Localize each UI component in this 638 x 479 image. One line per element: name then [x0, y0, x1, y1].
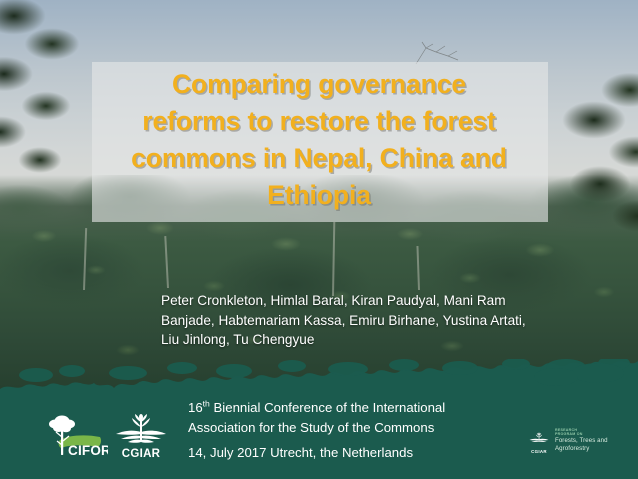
author-line-3: Liu Jinlong, Tu Chengyue — [161, 330, 593, 350]
title-line-3: commons in Nepal, China and — [68, 140, 570, 177]
fta-cgiar-emblem-icon — [528, 429, 550, 448]
page-title: Comparing governance reforms to restore … — [68, 66, 570, 214]
fta-name-line-2: Agroforestry — [555, 446, 608, 452]
cgiar-emblem-icon — [116, 414, 166, 443]
cifor-wordmark: CIFOR — [68, 443, 108, 458]
presentation-slide: Comparing governance reforms to restore … — [0, 0, 638, 479]
conference-line-2: Association for the Study of the Commons — [188, 418, 548, 438]
title-line-4: Ethiopia — [68, 177, 570, 214]
title-line-1: Comparing governance — [68, 66, 570, 103]
conference-date-location: 14, July 2017 Utrecht, the Netherlands — [188, 443, 548, 463]
fta-program-logo: CGIAR RESEARCH PROGRAM ON Forests, Trees… — [528, 424, 628, 458]
fta-name-line-1: Forests, Trees and — [555, 438, 608, 444]
author-list: Peter Cronkleton, Himlal Baral, Kiran Pa… — [161, 291, 593, 350]
cgiar-logo: CGIAR — [112, 410, 170, 462]
title-line-2: reforms to restore the forest — [68, 103, 570, 140]
conference-info: 16th Biennial Conference of the Internat… — [188, 398, 548, 463]
conference-ordinal-suffix: th — [203, 399, 210, 409]
cifor-logo: CIFOR — [42, 410, 108, 462]
author-line-2: Banjade, Habtemariam Kassa, Emiru Birhan… — [161, 311, 593, 331]
conference-line-1: 16th Biennial Conference of the Internat… — [188, 398, 548, 418]
conference-line-1-rest: Biennial Conference of the International — [210, 400, 445, 415]
author-line-1: Peter Cronkleton, Himlal Baral, Kiran Pa… — [161, 291, 593, 311]
fta-cgiar-wordmark: CGIAR — [531, 449, 547, 454]
fta-kicker-line-2: PROGRAM ON — [555, 433, 608, 437]
conference-ordinal-number: 16 — [188, 400, 203, 415]
cgiar-wordmark: CGIAR — [122, 448, 161, 460]
